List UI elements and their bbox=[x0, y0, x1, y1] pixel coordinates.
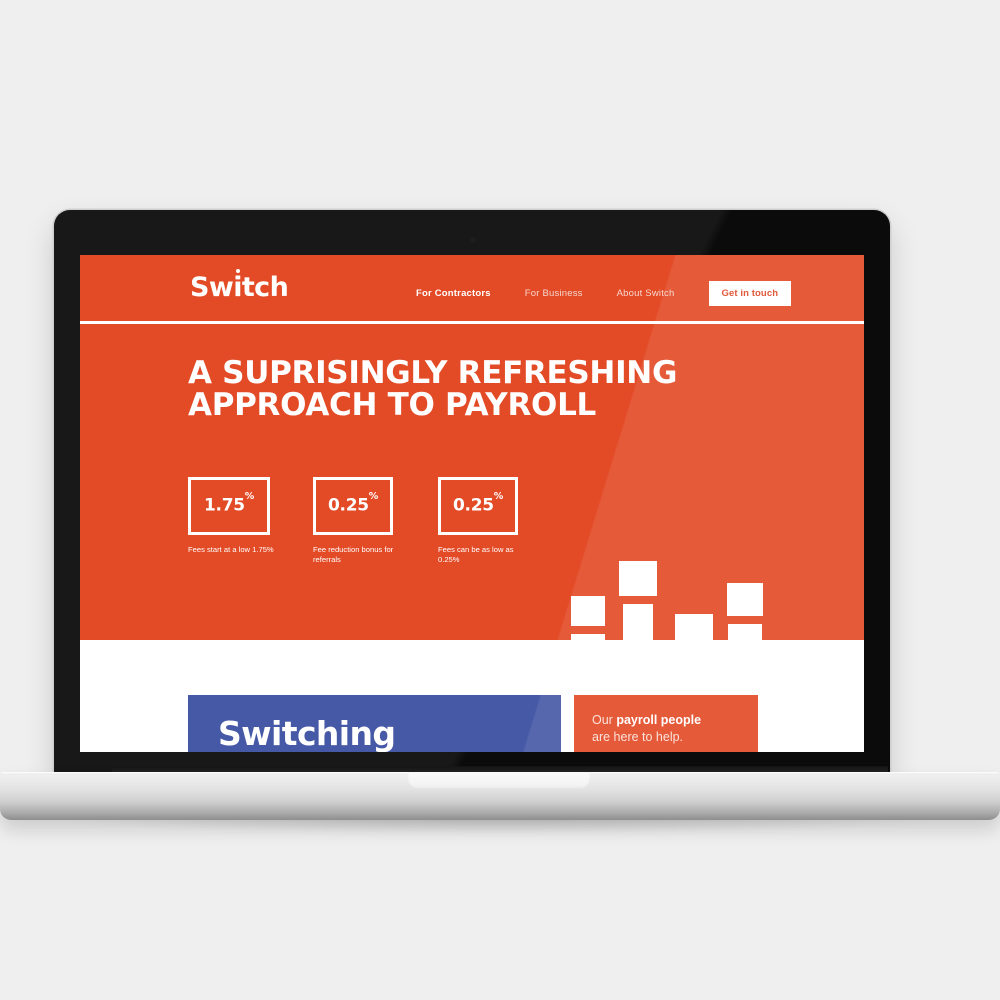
switching-panel-title: Switching bbox=[218, 717, 395, 750]
hero-section: Switch For Contractors For Business Abou… bbox=[80, 255, 864, 640]
stat-item: 0.25% Fees can be as low as 0.25% bbox=[438, 477, 561, 566]
laptop-screen: Switch For Contractors For Business Abou… bbox=[80, 255, 864, 752]
stat-caption: Fees start at a low 1.75% bbox=[188, 545, 274, 555]
nav-link-for-business[interactable]: For Business bbox=[525, 288, 583, 299]
stat-value: 1.75% bbox=[204, 497, 254, 515]
person-head bbox=[619, 561, 657, 596]
stat-caption: Fee reduction bonus for referrals bbox=[313, 545, 399, 566]
stat-unit: % bbox=[245, 491, 254, 502]
webcam-icon bbox=[470, 237, 476, 243]
header-divider bbox=[80, 321, 864, 324]
stat-value: 0.25% bbox=[328, 497, 378, 515]
stat-caption: Fees can be as low as 0.25% bbox=[438, 545, 524, 566]
brand-logo-part2: tch bbox=[242, 272, 288, 303]
nav-link-for-contractors[interactable]: For Contractors bbox=[416, 288, 491, 299]
stat-number: 1.75 bbox=[204, 496, 245, 516]
brand-logo-dotted-i: i bbox=[233, 272, 242, 303]
website-viewport: Switch For Contractors For Business Abou… bbox=[80, 255, 864, 752]
scene: Switch For Contractors For Business Abou… bbox=[0, 0, 1000, 1000]
stat-unit: % bbox=[494, 491, 503, 502]
person-head bbox=[727, 583, 763, 616]
hero-headline: A SUPRISINGLY REFRESHING APPROACH TO PAY… bbox=[188, 358, 748, 422]
get-in-touch-button[interactable]: Get in touch bbox=[709, 281, 792, 306]
switching-panel[interactable]: Switching bbox=[188, 695, 561, 752]
stat-number: 0.25 bbox=[453, 496, 494, 516]
hero-headline-line-2: APPROACH TO PAYROLL bbox=[188, 390, 748, 422]
primary-navigation: For Contractors For Business About Switc… bbox=[416, 281, 791, 306]
hero-stats: 1.75% Fees start at a low 1.75% 0.25% Fe… bbox=[188, 477, 563, 566]
help-panel[interactable]: Our payroll peopleare here to help. bbox=[574, 695, 758, 752]
stat-box: 0.25% bbox=[313, 477, 393, 535]
person-head bbox=[571, 596, 605, 626]
help-text-bold: payroll people bbox=[616, 713, 701, 727]
stat-value: 0.25% bbox=[453, 497, 503, 515]
stat-item: 1.75% Fees start at a low 1.75% bbox=[188, 477, 311, 566]
stat-item: 0.25% Fee reduction bonus for referrals bbox=[313, 477, 436, 566]
laptop-base bbox=[0, 772, 1000, 820]
site-header: Switch For Contractors For Business Abou… bbox=[80, 255, 864, 321]
help-panel-text: Our payroll peopleare here to help. bbox=[592, 712, 701, 746]
nav-link-about-switch[interactable]: About Switch bbox=[617, 288, 675, 299]
base-opening-notch bbox=[408, 772, 590, 789]
brand-logo-part1: Sw bbox=[190, 272, 233, 303]
panel-gap bbox=[561, 695, 574, 752]
stat-number: 0.25 bbox=[328, 496, 369, 516]
help-text-line2: are here to help. bbox=[592, 730, 683, 744]
stat-unit: % bbox=[369, 491, 378, 502]
stat-box: 1.75% bbox=[188, 477, 270, 535]
bottom-panels: Switching Our payroll peopleare here to … bbox=[188, 695, 768, 752]
stat-box: 0.25% bbox=[438, 477, 518, 535]
brand-logo[interactable]: Switch bbox=[190, 274, 288, 301]
hero-headline-line-1: A SUPRISINGLY REFRESHING bbox=[188, 358, 748, 390]
help-text-prefix: Our bbox=[592, 713, 616, 727]
